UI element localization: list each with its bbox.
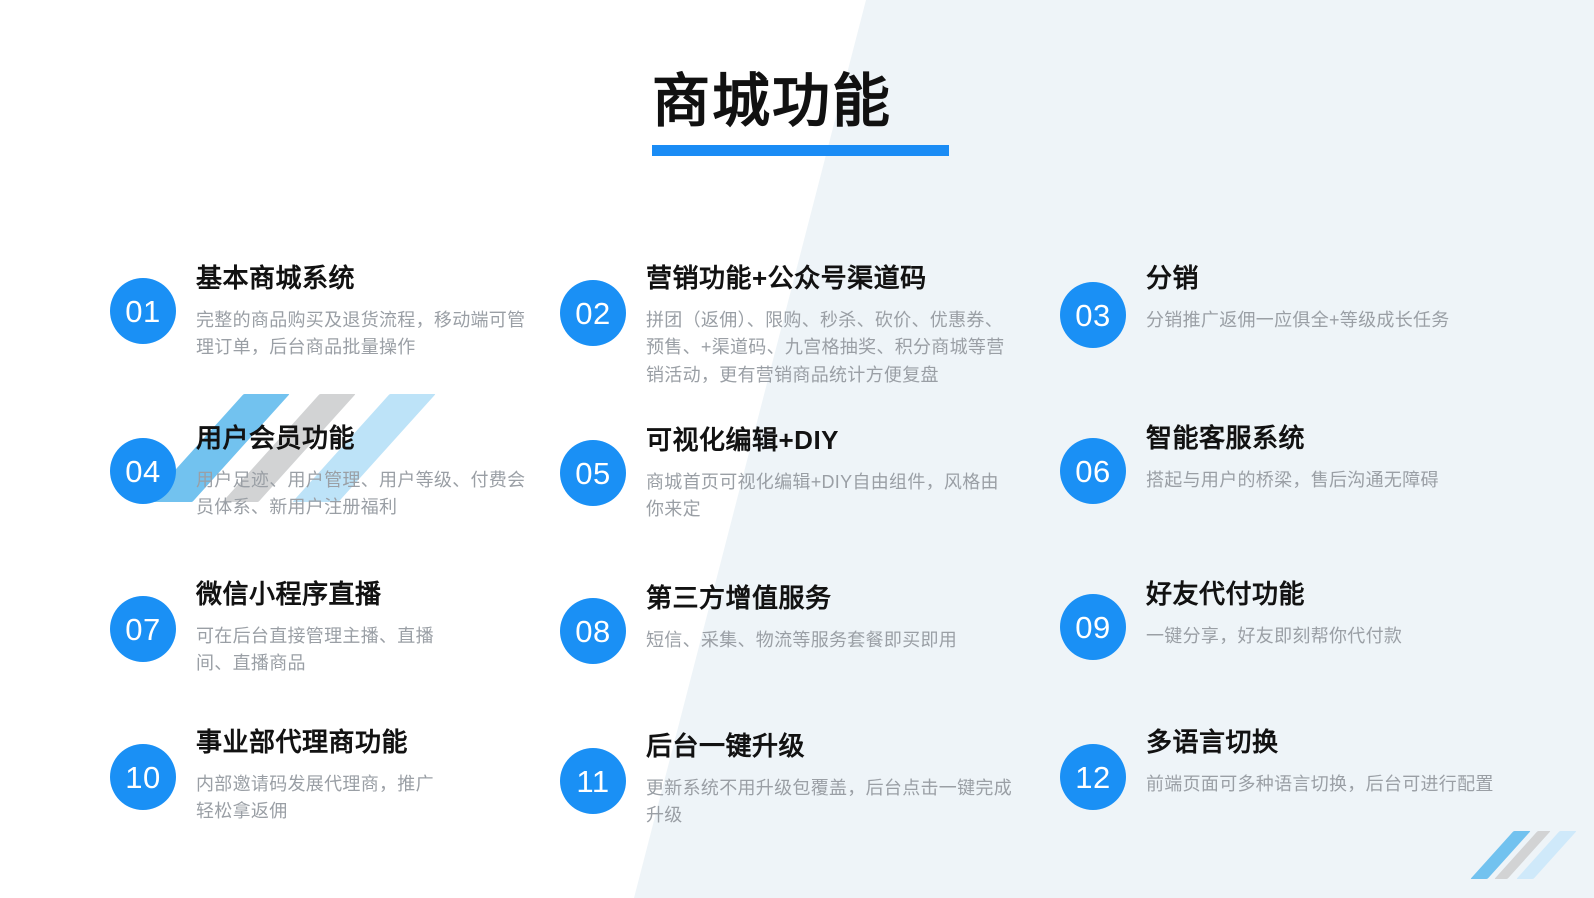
feature-description: 拼团（返佣）、限购、秒杀、砍价、优惠券、预售、+渠道码、九宫格抽奖、积分商城等营…	[646, 307, 1014, 391]
feature-description: 搭起与用户的桥梁，售后沟通无障碍	[1146, 467, 1496, 495]
feature-number-badge: 09	[1060, 594, 1126, 660]
feature-body: 多语言切换 前端页面可多种语言切换，后台可进行配置	[1146, 726, 1496, 798]
feature-description: 内部邀请码发展代理商，推广轻松拿返佣	[196, 771, 446, 827]
feature-number-badge: 07	[110, 596, 176, 662]
slide-canvas: 商城功能 01 基本商城系统 完整的商品购买及退货流程，移动端可管理订单，后台商…	[0, 0, 1594, 898]
page-title-block: 商城功能	[652, 72, 949, 156]
feature-number-badge: 12	[1060, 744, 1126, 810]
feature-description: 更新系统不用升级包覆盖，后台点击一键完成升级	[646, 775, 1014, 831]
feature-body: 分销 分销推广返佣一应俱全+等级成长任务	[1146, 262, 1506, 334]
feature-number-badge: 05	[560, 440, 626, 506]
feature-item-03[interactable]: 03 分销 分销推广返佣一应俱全+等级成长任务	[1060, 262, 1506, 348]
feature-title: 后台一键升级	[646, 730, 1014, 763]
feature-item-10[interactable]: 10 事业部代理商功能 内部邀请码发展代理商，推广轻松拿返佣	[110, 726, 446, 826]
feature-body: 营销功能+公众号渠道码 拼团（返佣）、限购、秒杀、砍价、优惠券、预售、+渠道码、…	[646, 262, 1014, 390]
feature-title: 微信小程序直播	[196, 578, 446, 611]
feature-title: 可视化编辑+DIY	[646, 424, 1014, 457]
feature-item-08[interactable]: 08 第三方增值服务 短信、采集、物流等服务套餐即买即用	[560, 582, 1014, 664]
feature-description: 前端页面可多种语言切换，后台可进行配置	[1146, 771, 1496, 799]
feature-description: 一键分享，好友即刻帮你代付款	[1146, 623, 1496, 651]
feature-title: 好友代付功能	[1146, 578, 1496, 611]
feature-number-badge: 11	[560, 748, 626, 814]
feature-title: 用户会员功能	[196, 422, 526, 455]
feature-body: 基本商城系统 完整的商品购买及退货流程，移动端可管理订单，后台商品批量操作	[196, 262, 526, 362]
feature-title: 基本商城系统	[196, 262, 526, 295]
feature-number-badge: 03	[1060, 282, 1126, 348]
feature-item-06[interactable]: 06 智能客服系统 搭起与用户的桥梁，售后沟通无障碍	[1060, 422, 1496, 504]
feature-number-badge: 04	[110, 438, 176, 504]
feature-description: 可在后台直接管理主播、直播间、直播商品	[196, 623, 446, 679]
feature-description: 完整的商品购买及退货流程，移动端可管理订单，后台商品批量操作	[196, 307, 526, 363]
feature-description: 商城首页可视化编辑+DIY自由组件，风格由你来定	[646, 469, 1014, 525]
feature-item-11[interactable]: 11 后台一键升级 更新系统不用升级包覆盖，后台点击一键完成升级	[560, 730, 1014, 830]
feature-item-07[interactable]: 07 微信小程序直播 可在后台直接管理主播、直播间、直播商品	[110, 578, 446, 678]
feature-description: 用户足迹、用户管理、用户等级、付费会员体系、新用户注册福利	[196, 467, 526, 523]
feature-body: 第三方增值服务 短信、采集、物流等服务套餐即买即用	[646, 582, 1014, 654]
feature-body: 智能客服系统 搭起与用户的桥梁，售后沟通无障碍	[1146, 422, 1496, 494]
feature-title: 事业部代理商功能	[196, 726, 446, 759]
feature-title: 分销	[1146, 262, 1506, 295]
feature-number-badge: 02	[560, 280, 626, 346]
feature-item-01[interactable]: 01 基本商城系统 完整的商品购买及退货流程，移动端可管理订单，后台商品批量操作	[110, 262, 526, 362]
feature-description: 分销推广返佣一应俱全+等级成长任务	[1146, 307, 1506, 335]
feature-item-04[interactable]: 04 用户会员功能 用户足迹、用户管理、用户等级、付费会员体系、新用户注册福利	[110, 422, 526, 522]
feature-number-badge: 06	[1060, 438, 1126, 504]
feature-item-02[interactable]: 02 营销功能+公众号渠道码 拼团（返佣）、限购、秒杀、砍价、优惠券、预售、+渠…	[560, 262, 1014, 390]
title-underline-rule	[652, 145, 949, 156]
feature-item-09[interactable]: 09 好友代付功能 一键分享，好友即刻帮你代付款	[1060, 578, 1496, 660]
feature-body: 可视化编辑+DIY 商城首页可视化编辑+DIY自由组件，风格由你来定	[646, 424, 1014, 524]
feature-title: 多语言切换	[1146, 726, 1496, 759]
feature-title: 营销功能+公众号渠道码	[646, 262, 1014, 295]
feature-item-05[interactable]: 05 可视化编辑+DIY 商城首页可视化编辑+DIY自由组件，风格由你来定	[560, 424, 1014, 524]
feature-title: 第三方增值服务	[646, 582, 1014, 615]
feature-number-badge: 10	[110, 744, 176, 810]
feature-number-badge: 01	[110, 278, 176, 344]
feature-description: 短信、采集、物流等服务套餐即买即用	[646, 627, 1014, 655]
feature-item-12[interactable]: 12 多语言切换 前端页面可多种语言切换，后台可进行配置	[1060, 726, 1496, 810]
feature-number-badge: 08	[560, 598, 626, 664]
feature-body: 后台一键升级 更新系统不用升级包覆盖，后台点击一键完成升级	[646, 730, 1014, 830]
feature-title: 智能客服系统	[1146, 422, 1496, 455]
feature-body: 微信小程序直播 可在后台直接管理主播、直播间、直播商品	[196, 578, 446, 678]
page-title: 商城功能	[652, 72, 949, 133]
feature-body: 事业部代理商功能 内部邀请码发展代理商，推广轻松拿返佣	[196, 726, 446, 826]
feature-body: 用户会员功能 用户足迹、用户管理、用户等级、付费会员体系、新用户注册福利	[196, 422, 526, 522]
feature-body: 好友代付功能 一键分享，好友即刻帮你代付款	[1146, 578, 1496, 650]
